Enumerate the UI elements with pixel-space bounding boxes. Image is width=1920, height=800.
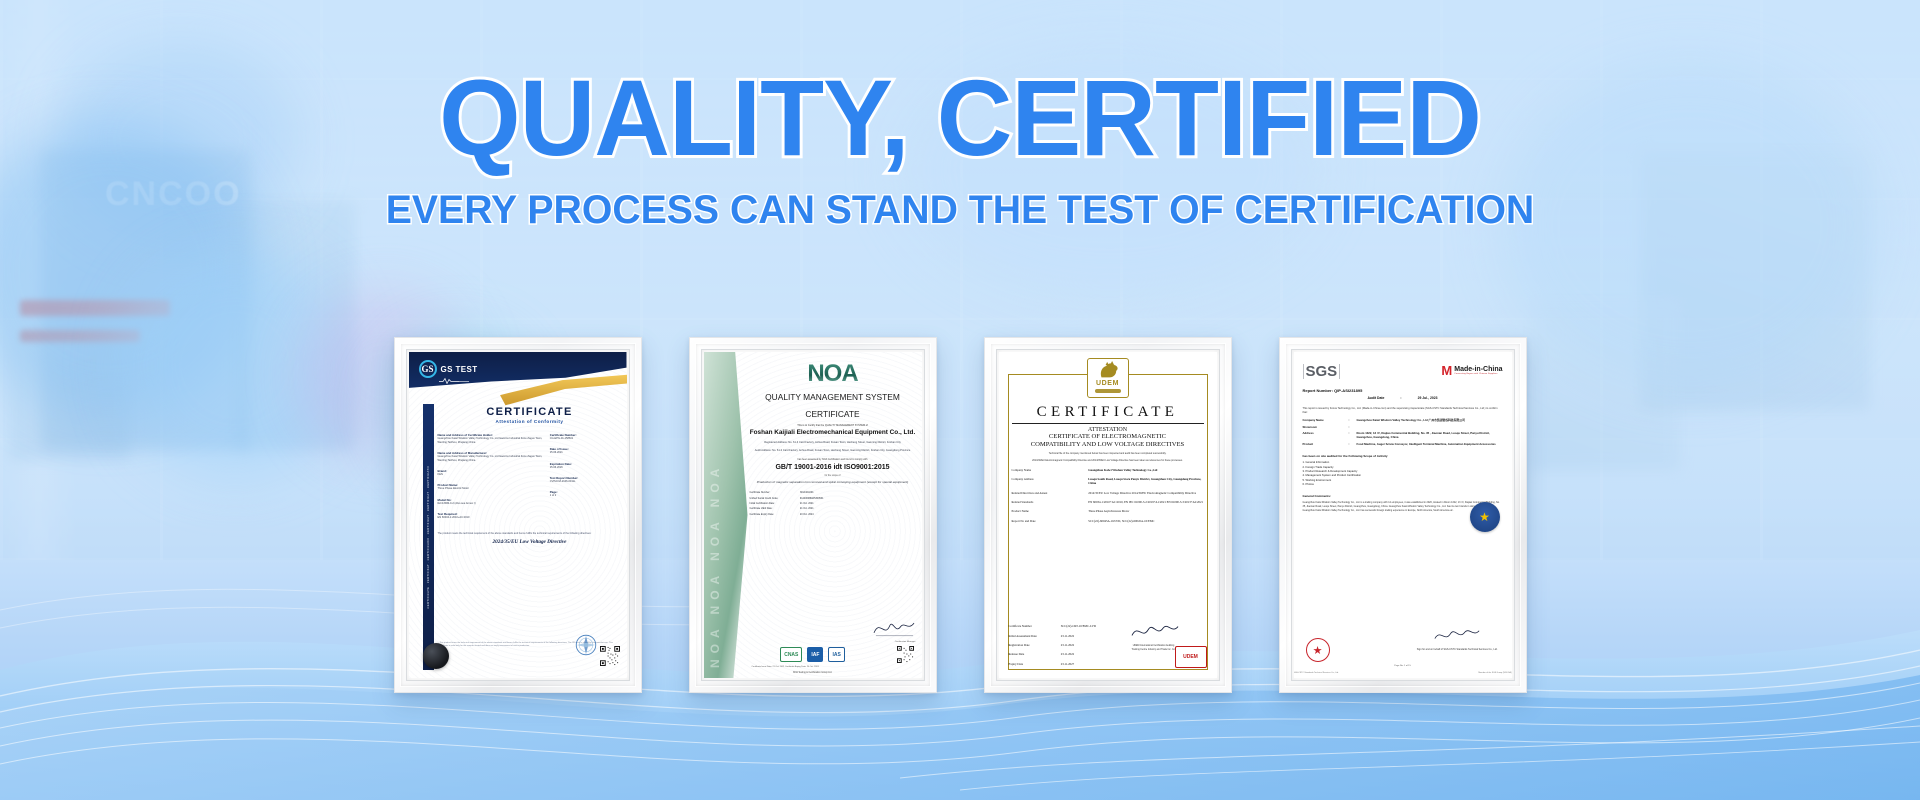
list-item: 6. Photos <box>1303 483 1503 487</box>
udem-horse-icon <box>1093 361 1123 379</box>
mic-mark-icon: M <box>1441 364 1452 377</box>
certificate-directive: 2024/35/EU Low Voltage Directive <box>438 539 622 545</box>
report-number-row: Report Number: QIP-ASI231895 <box>1303 388 1503 393</box>
udem-crest-logo: UDEM <box>1087 358 1129 398</box>
date-row: Initial Assessment Date23.11.2022 <box>1009 634 1099 638</box>
certificate-frame-sgs[interactable]: SGS M Made-in-China Connecting Buyers wi… <box>1279 337 1527 693</box>
field: Product Name:Three Phase Electric Motor <box>438 483 550 491</box>
certificate-frame-gs-test[interactable]: GS GS TEST CERTIFICATE · ZERTIFIKAT · CE… <box>394 337 642 693</box>
audited-supplier-badge: ★ <box>1470 502 1500 532</box>
field: Name and Address of Certificate Holder:G… <box>438 433 550 445</box>
field-value: Guangzhou Kaiwi Wisdom Valley Technology… <box>1088 468 1203 472</box>
field-row: Product:Food Machine, Auger Screw Convey… <box>1303 442 1503 446</box>
gs-test-logo: GS GS TEST <box>419 360 478 378</box>
certificate-gallery: GS GS TEST CERTIFICATE · ZERTIFIKAT · CE… <box>0 337 1920 693</box>
meta-key: Unified Social Credit Code: <box>750 497 800 500</box>
certificate-frame-noa[interactable]: NOA NOA NOA NOA NOA QUALITY MANAGEMENT S… <box>689 337 937 693</box>
ecg-icon <box>439 377 469 384</box>
footer-right: Member of the SGS Group (SGS SA) <box>1478 672 1511 674</box>
qr-code-icon <box>897 646 914 663</box>
field-row: Related Directives and Annex2014/35/EU L… <box>1012 491 1204 495</box>
field-key: Product <box>1303 442 1349 446</box>
standard: GB/T 19001-2016 idt ISO9001:2015 <box>750 464 916 471</box>
audit-date-value: 29 Jul., 2023 <box>1418 396 1438 400</box>
company-name: Foshan Kaijiali Electromechanical Equipm… <box>750 429 916 437</box>
report-number-value: QIP-ASI231895 <box>1334 388 1362 393</box>
intro-line-1: Technical file of the company mentioned … <box>1012 452 1204 456</box>
field-value: SCC(22)-60045A-10/LVD, SCC(22)-60045A-10… <box>1088 519 1203 523</box>
field-value: Three Phase Electric Motor <box>438 487 550 491</box>
ias-mark: IAS <box>828 647 844 662</box>
signature-lines: UDEM International Certification Auditin… <box>1129 645 1179 652</box>
field-row: Company Name:Guangzhou Kaiwi Wisdom Vall… <box>1303 418 1503 422</box>
certificate-title: QUALITY MANAGEMENT SYSTEM <box>750 392 916 403</box>
certificate-spine: CERTIFICATE · ZERTIFIKAT · CERTIFICADO ·… <box>423 404 434 670</box>
udem-wordmark: UDEM <box>1096 380 1119 387</box>
sgs-logo: SGS <box>1303 364 1341 379</box>
field-row: Related StandardsEN 60034-1:2010+AC:2010… <box>1012 500 1204 504</box>
page-label: Page No. 1 of 15 <box>1294 665 1512 667</box>
certificate-frame-udem[interactable]: UDEM CERTIFICATE ATTESTATION CERTIFICATE… <box>984 337 1232 693</box>
certificate-dates: Certificate NumberSCC(22)-CRT-10/EMC-LVD… <box>1009 619 1099 666</box>
certificate-meta: Certificate Number:NOA/211001 Unified So… <box>750 491 860 516</box>
field-value: 15.06.2026 <box>550 466 622 470</box>
audit-address: Audit Address: No. 61-3 Card Factory, An… <box>750 449 916 453</box>
star-icon: ★ <box>1479 511 1490 523</box>
certificate-subject-2: COMPATIBILITY AND LOW VOLTAGE DIRECTIVES <box>1012 441 1204 449</box>
field-row: Company NameGuangzhou Kaiwi Wisdom Valle… <box>1012 468 1204 472</box>
field-colon: : <box>1349 425 1357 429</box>
mic-tagline: Connecting Buyers with Chinese Suppliers <box>1454 373 1502 375</box>
signature-icon <box>1129 622 1181 640</box>
field-row: Product NameThree Phase Asynchronous Mot… <box>1012 509 1204 513</box>
certificate-paper: SGS M Made-in-China Connecting Buyers wi… <box>1294 352 1512 678</box>
field-colon: : <box>1349 418 1357 422</box>
field-value: EN 60034-1:2010+AC:2010 <box>438 516 550 520</box>
certificate-note: The product meets the technical requirem… <box>438 532 622 536</box>
field-value: Luoqu South Road, Luoqu Store Panyu Dist… <box>1088 477 1203 486</box>
field: Model No:IEC3-80M-0-2 (Also see Annex I) <box>438 498 550 506</box>
meta-key: Certificate Valid Date: <box>750 507 800 510</box>
field: Brand:KEN <box>438 469 550 477</box>
red-seal-icon: ★ <box>1306 638 1330 662</box>
report-footer: SGS-CSTC Standards Technical Services Co… <box>1294 672 1512 674</box>
qr-code-icon <box>600 646 620 666</box>
accreditation-marks: CNAS IAF IAS <box>706 647 920 662</box>
field: Name and Address of Manufacturer:Guangzh… <box>438 451 550 463</box>
field-value: CG-EPG-01-158601 <box>550 437 622 441</box>
field-row: Address:Room 1322, 13 / F, Kiajiao Comme… <box>1303 431 1503 439</box>
certificate-side-wash: NOA NOA NOA NOA <box>704 352 748 678</box>
certificate-mat: UDEM CERTIFICATE ATTESTATION CERTIFICATE… <box>996 349 1220 681</box>
meta-value: 91440608MA5300531 <box>800 497 859 500</box>
field: Test Report Number:CVISCO/L2106-0011L <box>550 476 622 484</box>
field-value: 15.06.2021 <box>550 451 622 455</box>
field: Date of Issue:15.06.2021 <box>550 447 622 455</box>
field-key: Related Directives and Annex <box>1012 491 1089 495</box>
date-key: Initial Assessment Date <box>1009 634 1061 638</box>
date-value: SCC(22)-CRT-10/EMC-LVD <box>1061 624 1099 628</box>
signature-label: Certification Manager <box>895 641 916 643</box>
noa-logo: NOA <box>750 362 916 386</box>
assessed-line: has been assessed by NOA Certification a… <box>750 458 916 461</box>
certificate-subtitle: Attestation of Conformity <box>438 419 622 424</box>
hero-banner: CNCOO <box>0 0 1920 800</box>
certify-line: This is to Certify that the QUALITY MANA… <box>750 424 916 427</box>
compass-emblem-icon <box>571 630 601 660</box>
iaf-mark: IAF <box>807 647 823 662</box>
meta-row: Certificate Expiry Date:20 Oct. 2024 <box>750 513 860 516</box>
date-row: Expiry Date23.11.2027 <box>1009 662 1099 666</box>
field-value: IEC3-80M-0-2 (Also see Annex I) <box>438 502 550 506</box>
certificate-mat: NOA NOA NOA NOA NOA QUALITY MANAGEMENT S… <box>701 349 925 681</box>
date-row: Certificate NumberSCC(22)-CRT-10/EMC-LVD <box>1009 624 1099 628</box>
field-value: Room 1322, 13 / F, Kiajiao Commercial Bu… <box>1357 431 1503 439</box>
field-value: Guangzhou Kaiwi Wisdom Valley Technology… <box>438 437 550 445</box>
signoff-text: Sign for and on behalf of SGS-CSTC Stand… <box>1417 648 1498 652</box>
audit-date-row: Audit Date : 29 Jul., 2023 <box>1303 396 1503 400</box>
general-comments-label: General Comments: <box>1303 494 1503 498</box>
date-value: 23.11.2022 <box>1061 643 1099 647</box>
side-watermark: NOA NOA NOA NOA <box>708 362 736 668</box>
field-key: Company Name <box>1012 468 1089 472</box>
certificate-paper: NOA NOA NOA NOA NOA QUALITY MANAGEMENT S… <box>704 352 922 678</box>
field-key: Report No and Date <box>1012 519 1089 523</box>
certificate-paper: GS GS TEST CERTIFICATE · ZERTIFIKAT · CE… <box>409 352 627 678</box>
signature-icon <box>872 616 916 638</box>
scope-text: Production of magnetic separation iron r… <box>750 480 916 485</box>
certificate-footer: NOA Testing & Certification Group Ltd. <box>704 672 922 674</box>
field-key: Address <box>1303 431 1349 439</box>
scope-list: 1. General Information 2. Foreign Trade … <box>1303 461 1503 487</box>
gs-ring-icon: GS <box>419 360 437 378</box>
certificate-title: CERTIFICATE <box>1012 404 1204 424</box>
meta-key: Initial Certification Date: <box>750 502 800 505</box>
certificate-mat: GS GS TEST CERTIFICATE · ZERTIFIKAT · CE… <box>406 349 630 681</box>
meta-row: Unified Social Credit Code:91440608MA530… <box>750 497 860 500</box>
cnas-mark: CNAS <box>780 647 802 662</box>
certificate-fields-left: Name and Address of Certificate Holder:G… <box>438 433 550 526</box>
field: Test Required:EN 60034-1:2010+AC:2010 <box>438 512 550 520</box>
certificate-mat: SGS M Made-in-China Connecting Buyers wi… <box>1291 349 1515 681</box>
meta-row: Certificate Number:NOA/211001 <box>750 491 860 494</box>
wax-seal-icon <box>423 643 449 669</box>
hero-heading-group: QUALITY, CERTIFIED EVERY PROCESS CAN STA… <box>0 0 1920 232</box>
certificate-title-2: CERTIFICATE <box>750 409 916 420</box>
field-value: CVISCO/L2106-0011L <box>550 480 622 484</box>
certificate-dates: Certificate Issue Date: 21 Oct. 2021 Cer… <box>752 666 819 669</box>
field-value: Guangzhou Kaiwi Wisdom Valley Technology… <box>438 455 550 463</box>
date-row: Registration Date23.11.2022 <box>1009 643 1099 647</box>
field-value: 1 of 2 <box>550 494 622 498</box>
field-row: Showroom: <box>1303 425 1503 429</box>
field-value: KEN <box>438 473 550 477</box>
signoff-block: Sign for and on behalf of SGS-CSTC Stand… <box>1417 627 1498 652</box>
field-value: Three Phase Asynchronous Motor <box>1088 509 1203 513</box>
date-key: Certificate Number <box>1009 624 1061 628</box>
meta-row: Certificate Valid Date:21 Oct. 2021 <box>750 507 860 510</box>
certificate-title: CERTIFICATE <box>438 406 622 418</box>
audit-date-label: Audit Date <box>1367 396 1384 400</box>
date-value: 23.11.2027 <box>1061 662 1099 666</box>
field-key: Company Address <box>1012 477 1089 486</box>
gs-test-wordmark: GS TEST <box>441 365 478 374</box>
made-in-china-logo: M Made-in-China Connecting Buyers with C… <box>1441 364 1502 377</box>
report-header: SGS M Made-in-China Connecting Buyers wi… <box>1303 364 1503 379</box>
date-key: Expiry Date <box>1009 662 1061 666</box>
certificate-subject-1: CERTIFICATE OF ELECTROMAGNETIC <box>1012 433 1204 441</box>
scope-header: has been on site audited for the Followi… <box>1303 454 1503 458</box>
date-key: Release Date <box>1009 652 1061 656</box>
certificate-paper: UDEM CERTIFICATE ATTESTATION CERTIFICATE… <box>999 352 1217 678</box>
certificate-fields-right: Certificate Number:CG-EPG-01-158601 Date… <box>550 433 622 526</box>
scope-label: for the scope of <box>750 475 916 477</box>
meta-value: 20 Oct. 2024 <box>800 513 859 516</box>
field: Expiration Date:15.06.2026 <box>550 462 622 470</box>
meta-value: 21 Oct. 2021 <box>800 502 859 505</box>
field: Certificate Number:CG-EPG-01-158601 <box>550 433 622 441</box>
field-value: 2014/35/EU Low Voltage Directive 2014/30… <box>1088 491 1203 495</box>
field: Page:1 of 2 <box>550 490 622 498</box>
udem-ribbon-icon <box>1095 389 1121 393</box>
field-value: EN 60034-1:2010+AC:2010, EN IEC 61000-3-… <box>1088 500 1203 504</box>
meta-key: Certificate Expiry Date: <box>750 513 800 516</box>
meta-row: Initial Certification Date:21 Oct. 2021 <box>750 502 860 505</box>
field-value <box>1357 425 1503 429</box>
audit-date-colon: : <box>1400 396 1401 400</box>
field-key: Product Name <box>1012 509 1089 513</box>
field-colon: : <box>1349 431 1357 439</box>
certificate-fields: Name and Address of Certificate Holder:G… <box>438 433 622 526</box>
intro-line-2: 2014/30/EU Electromagnetic Compatibility… <box>1012 459 1204 463</box>
page-subtitle: EVERY PROCESS CAN STAND THE TEST OF CERT… <box>19 188 1901 232</box>
meta-value: 21 Oct. 2021 <box>800 507 859 510</box>
date-value: 23.11.2022 <box>1061 634 1099 638</box>
page-title: QUALITY, CERTIFIED <box>29 0 1891 174</box>
date-key: Registration Date <box>1009 643 1061 647</box>
date-value: 23.11.2022 <box>1061 652 1099 656</box>
field-value: Food Machine, Auger Screw Conveyor, Inte… <box>1357 442 1503 446</box>
footer-left: SGS-CSTC Standards Technical Services Co… <box>1294 672 1339 674</box>
signature-icon <box>1432 627 1482 643</box>
field-row: Report No and DateSCC(22)-60045A-10/LVD,… <box>1012 519 1204 523</box>
field-value: Guangzhou Kaiwi Wisdom Valley Technology… <box>1357 418 1503 422</box>
meta-key: Certificate Number: <box>750 491 800 494</box>
field-key: Related Standards <box>1012 500 1089 504</box>
field-key: Company Name <box>1303 418 1349 422</box>
signature-block: UDEM International Certification Auditin… <box>1129 622 1179 652</box>
meta-value: NOA/211001 <box>800 491 859 494</box>
registered-address: Registered Address: No. 61-3 Card Factor… <box>750 441 916 445</box>
report-number-label: Report Number: <box>1303 388 1333 393</box>
field-row: Company AddressLuoqu South Road, Luoqu S… <box>1012 477 1204 486</box>
report-intro: This report is issued by Focus Technolog… <box>1303 407 1503 415</box>
udem-stamp: UDEM <box>1175 646 1207 668</box>
field-colon: : <box>1349 442 1357 446</box>
date-row: Release Date23.11.2022 <box>1009 652 1099 656</box>
field-key: Showroom <box>1303 425 1349 429</box>
